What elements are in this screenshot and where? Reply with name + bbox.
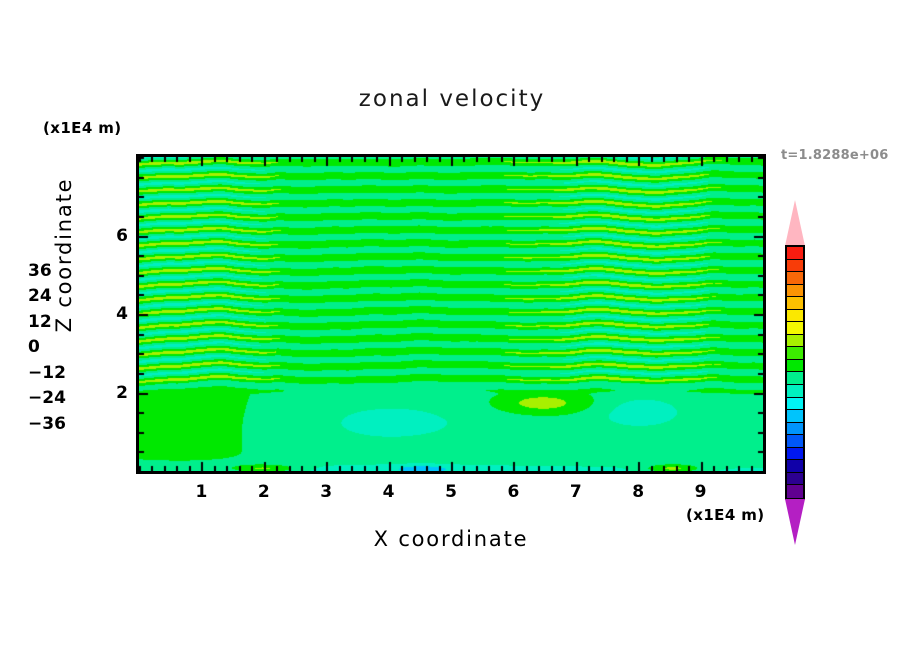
y-tick-label: 2: [98, 383, 128, 403]
colorbar-tick-label: 12: [28, 312, 52, 332]
colorbar-band: [787, 247, 803, 260]
colorbar-band: [787, 285, 803, 298]
colorbar-band: [787, 360, 803, 373]
colorbar-tick-label: −12: [28, 363, 66, 383]
x-tick-label: 6: [498, 482, 528, 502]
x-tick-label: 2: [249, 482, 279, 502]
colorbar-band: [787, 297, 803, 310]
colorbar: [785, 200, 805, 516]
colorbar-tick-label: −24: [28, 388, 66, 408]
colorbar-band: [787, 372, 803, 385]
colorbar-band: [787, 322, 803, 335]
colorbar-band: [787, 272, 803, 285]
colorbar-bands: [785, 245, 805, 500]
x-tick-label: 9: [686, 482, 716, 502]
colorbar-band: [787, 310, 803, 323]
x-tick-label: 5: [436, 482, 466, 502]
colorbar-over-arrow-icon: [785, 200, 805, 246]
x-axis-units-label: (x1E4 m): [686, 506, 765, 524]
colorbar-band: [787, 347, 803, 360]
contour-plot-area: [136, 154, 766, 474]
colorbar-band: [787, 473, 803, 486]
colorbar-tick-label: 0: [28, 337, 40, 357]
colorbar-band: [787, 460, 803, 473]
colorbar-tick-label: 36: [28, 261, 52, 281]
colorbar-band: [787, 398, 803, 411]
x-axis-title: X coordinate: [136, 527, 766, 551]
contour-field-canvas: [139, 157, 763, 471]
x-tick-label: 7: [561, 482, 591, 502]
x-tick-label: 3: [311, 482, 341, 502]
timestamp-annotation: t=1.8288e+06: [781, 148, 888, 163]
x-tick-label: 1: [186, 482, 216, 502]
page-title: zonal velocity: [0, 86, 904, 112]
y-axis-units-label: (x1E4 m): [43, 119, 122, 137]
x-tick-label: 8: [623, 482, 653, 502]
y-tick-label: 6: [98, 226, 128, 246]
y-axis-title: Z coordinate: [52, 155, 76, 355]
colorbar-band: [787, 448, 803, 461]
colorbar-tick-label: −36: [28, 414, 66, 434]
x-tick-label: 4: [374, 482, 404, 502]
colorbar-tick-label: 24: [28, 286, 52, 306]
colorbar-band: [787, 435, 803, 448]
colorbar-band: [787, 485, 803, 498]
colorbar-band: [787, 410, 803, 423]
colorbar-under-arrow-icon: [785, 499, 805, 545]
colorbar-band: [787, 423, 803, 436]
colorbar-band: [787, 385, 803, 398]
y-tick-label: 4: [98, 304, 128, 324]
colorbar-band: [787, 260, 803, 273]
colorbar-band: [787, 335, 803, 348]
